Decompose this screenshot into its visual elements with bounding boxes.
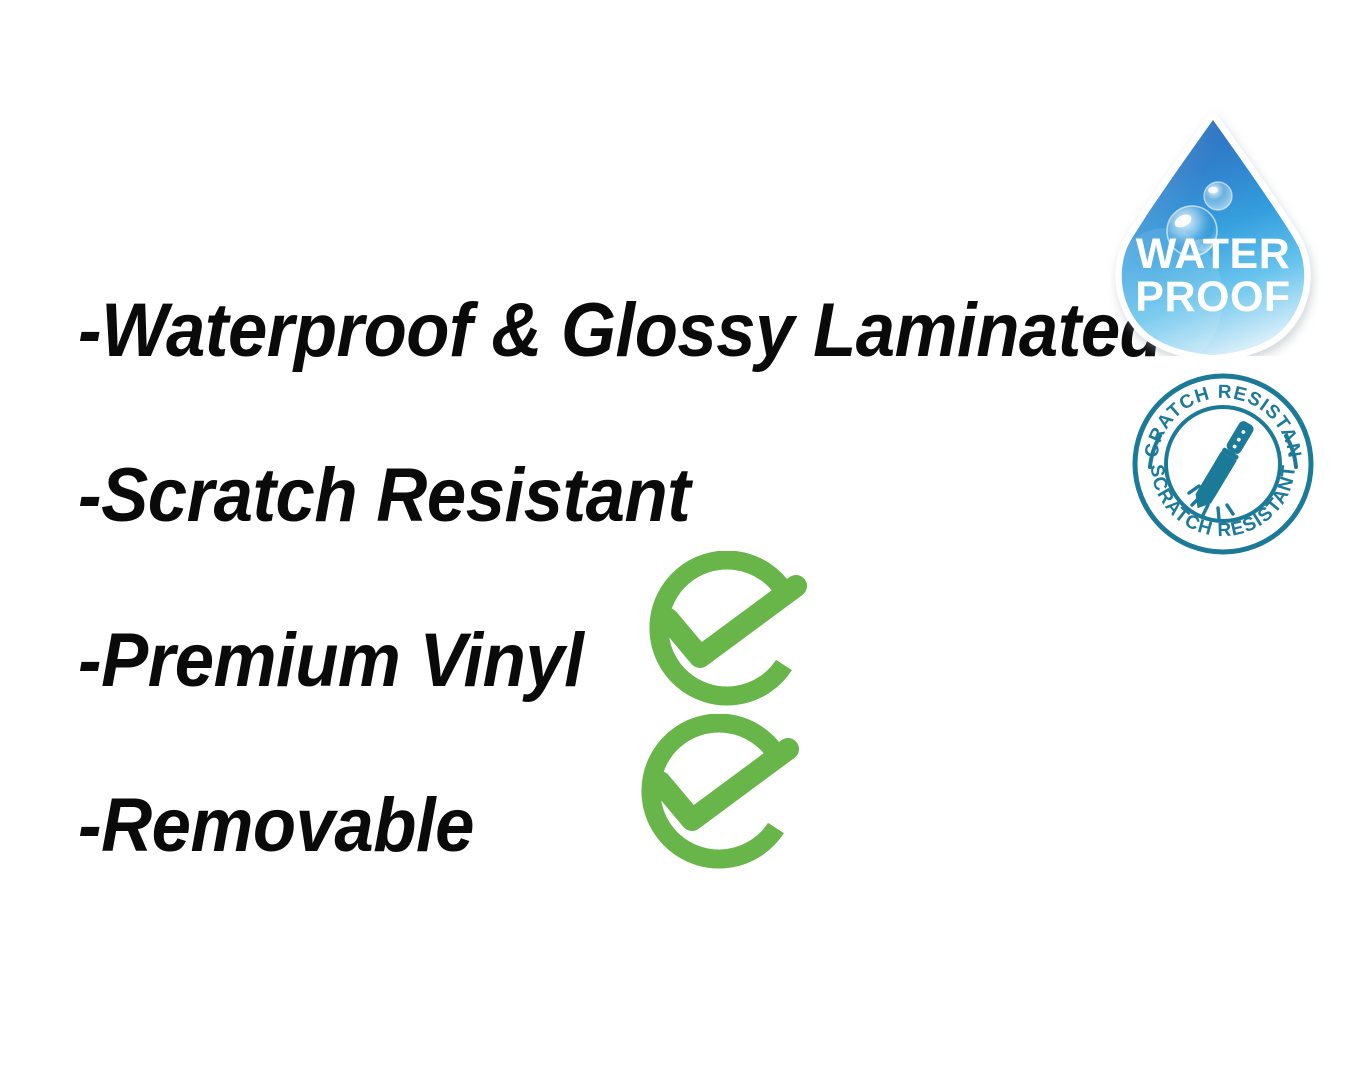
feature-item-waterproof-glossy-laminated: -Waterproof & Glossy Laminated — [78, 248, 1118, 413]
check-premium-vinyl — [634, 551, 834, 711]
feature-label: -Scratch Resistant — [78, 458, 690, 534]
check-tick — [668, 586, 796, 657]
check-tick — [660, 749, 788, 820]
circle-check-icon — [626, 714, 826, 874]
feature-item-premium-vinyl: -Premium Vinyl — [78, 578, 1118, 743]
bubble-small-icon — [1204, 182, 1232, 210]
scratch-resistant-stamp: SCRATCH RESISTANT SCRATCH RESISTANT — [1131, 372, 1315, 556]
circle-check-icon — [634, 551, 834, 711]
waterproof-badge: WATER PROOF — [1105, 108, 1321, 356]
feature-label: -Removable — [78, 788, 474, 864]
scratch-resistant-badge: SCRATCH RESISTANT SCRATCH RESISTANT — [1131, 372, 1315, 556]
product-features-graphic: -Waterproof & Glossy Laminated -Scratch … — [0, 0, 1359, 1080]
waterproof-line2: PROOF — [1135, 273, 1290, 321]
feature-label: -Waterproof & Glossy Laminated — [78, 293, 1162, 369]
feature-label: -Premium Vinyl — [78, 623, 583, 699]
feature-item-removable: -Removable — [78, 743, 1118, 908]
feature-list: -Waterproof & Glossy Laminated -Scratch … — [78, 248, 1118, 908]
waterproof-line1: WATER — [1136, 230, 1291, 278]
water-drop-icon: WATER PROOF — [1105, 108, 1321, 356]
check-removable — [626, 714, 826, 874]
feature-item-scratch-resistant: -Scratch Resistant — [78, 413, 1118, 578]
